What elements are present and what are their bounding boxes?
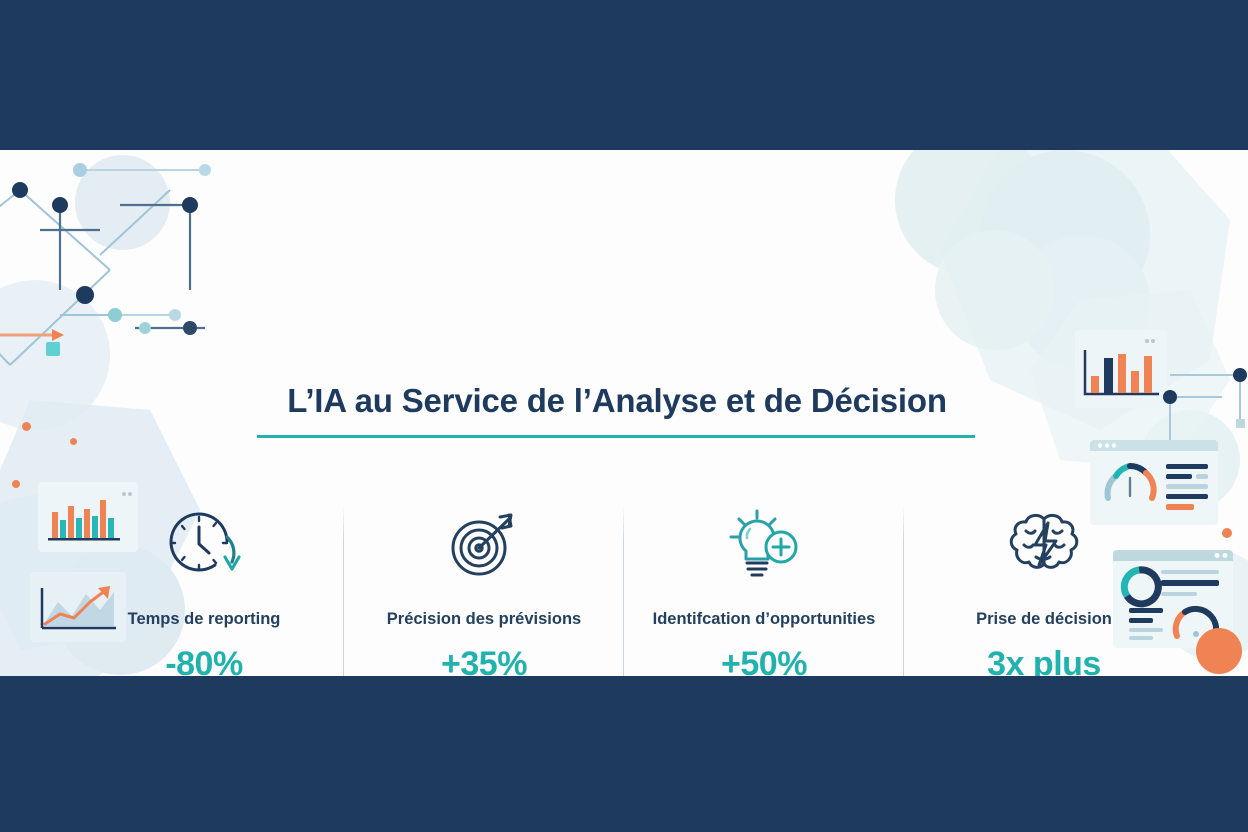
stats-row: Temps de reporting -80% de 5 dous à 1 jo… [64,500,1184,676]
title-block: L’IA au Service de l’Analyse et de Décis… [257,382,977,438]
bar-chart-card-icon [1075,330,1167,408]
network-nodes-icon [1160,345,1248,455]
stat-card-temps-de-reporting: Temps de reporting -80% de 5 dous à 1 jo… [64,500,344,676]
stat-value: +35% [441,645,527,676]
clock-arrow-icon [165,500,243,588]
stat-label: Précision des prévisions [387,610,581,629]
decorative-dot [1196,628,1242,674]
infographic-canvas: L’IA au Service de l’Analyse et de Décis… [0,0,1248,832]
stat-card-prise-de-decision: Prise de décision 3x plus plus rapidre [904,500,1184,676]
stat-card-precision-des-previsions: Précision des prévisions +35% Gain de pr… [344,500,624,676]
target-arrow-icon [445,500,523,588]
decorative-blob [980,150,1150,320]
page-title: L’IA au Service de l’Analyse et de Décis… [257,382,977,421]
brain-bolt-icon [1002,500,1086,588]
title-underline [257,435,975,438]
stat-label: Identifcation d’opportunities [653,610,876,629]
stat-label: Prise de décision [976,610,1112,629]
decorative-dot [1222,528,1232,538]
stat-card-identification-opportunites: Identifcation d’opportunities +50% de no… [624,500,904,676]
decorative-dot [12,480,20,488]
stat-value: +50% [721,645,807,676]
bottom-navy-band [0,676,1248,832]
decorative-dot [22,422,31,431]
decorative-blob [935,230,1055,350]
decorative-dot [70,438,77,445]
lightbulb-plus-icon [723,500,805,588]
network-nodes-icon [0,150,220,440]
content-panel: L’IA au Service de l’Analyse et de Décis… [0,150,1248,676]
decorative-blob [895,150,1045,275]
top-navy-band [0,0,1248,150]
stat-value: 3x plus [987,645,1101,676]
stat-value: -80% [165,645,242,676]
stat-label: Temps de reporting [128,610,281,629]
